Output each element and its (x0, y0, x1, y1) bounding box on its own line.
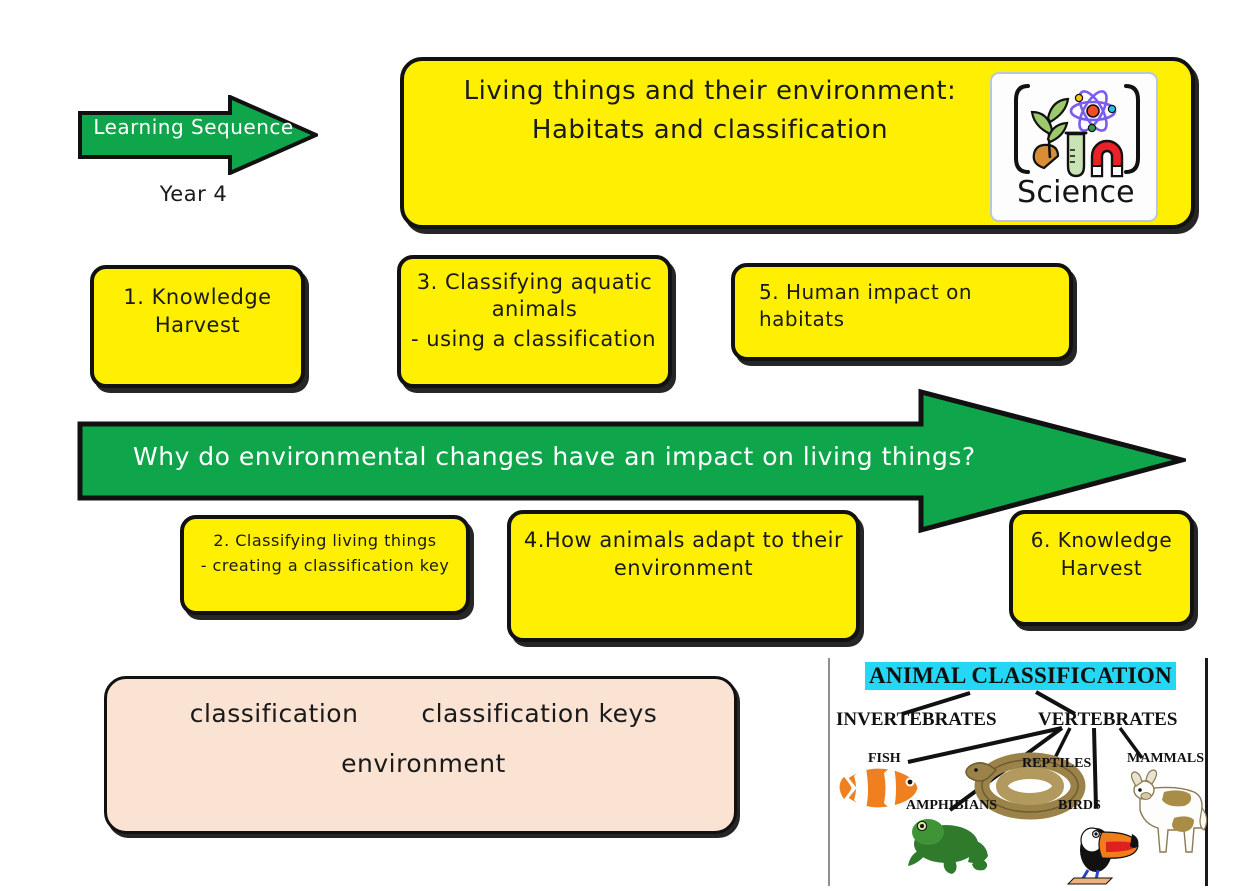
vocabulary-word-2: classification keys (421, 699, 657, 728)
label-vertebrates: VERTEBRATES (1038, 709, 1177, 731)
classification-diagram-lines (830, 658, 1210, 886)
lesson-3-line2: animals (411, 296, 658, 323)
lesson-2-line2: - creating a classification key (194, 554, 456, 579)
animal-classification-title: ANIMAL CLASSIFICATION (865, 662, 1176, 690)
lesson-6-text: 6. Knowledge Harvest (1023, 526, 1180, 582)
lesson-box-4[interactable]: 4.How animals adapt to their environment (507, 510, 860, 642)
lesson-4-line2: environment (521, 554, 846, 582)
lesson-4-text: 4.How animals adapt to their environment (521, 526, 846, 583)
lesson-6-line1: 6. Knowledge (1023, 526, 1180, 554)
label-mammals: MAMMALS (1127, 751, 1204, 767)
label-reptiles: REPTILES (1022, 756, 1091, 772)
lesson-2-line1: 2. Classifying living things (194, 529, 456, 554)
vocabulary-box: classification classification keys envir… (104, 676, 737, 834)
learning-sequence-poster: Learning Sequence Year 4 Living things a… (0, 0, 1260, 891)
learning-sequence-arrow (78, 95, 318, 175)
magnet-icon (1092, 141, 1122, 176)
vocabulary-line-2: environment (107, 747, 740, 781)
test-tube-icon (1066, 133, 1086, 176)
cow-icon (1131, 770, 1206, 852)
lesson-6-line2: Harvest (1023, 554, 1180, 582)
science-icons-graphic (992, 76, 1158, 182)
year-label: Year 4 (86, 180, 301, 208)
label-birds: BIRDS (1058, 798, 1101, 814)
toucan-icon (1068, 828, 1138, 884)
animal-classification-image: ANIMAL CLASSIFICATION INVERTEBRATES VERT… (828, 658, 1208, 886)
lesson-5-text: 5. Human impact on habitats (745, 279, 1059, 333)
lesson-box-2[interactable]: 2. Classifying living things - creating … (180, 515, 470, 615)
lesson-box-6[interactable]: 6. Knowledge Harvest (1009, 510, 1194, 626)
label-fish: FISH (868, 751, 901, 767)
lesson-5-line1: 5. Human impact on habitats (759, 279, 1059, 333)
lesson-2-text: 2. Classifying living things - creating … (194, 529, 456, 579)
lesson-1-text: 1. Knowledge Harvest (104, 283, 291, 340)
label-amphibians: AMPHIBIANS (906, 798, 997, 814)
lesson-box-5[interactable]: 5. Human impact on habitats (731, 263, 1073, 361)
lesson-3-line3: - using a classification (411, 326, 658, 353)
frog-icon (908, 819, 988, 874)
vocabulary-line-1: classification classification keys (107, 697, 740, 731)
vocabulary-word-1: classification (190, 699, 359, 728)
lesson-1-line1: 1. Knowledge (104, 283, 291, 311)
lesson-1-line2: Harvest (104, 311, 291, 339)
lesson-3-line1: 3. Classifying aquatic (411, 269, 658, 296)
label-invertebrates: INVERTEBRATES (836, 709, 997, 731)
lesson-3-text: 3. Classifying aquatic animals - using a… (411, 269, 658, 353)
atom-icon (1071, 87, 1116, 134)
plant-sprout-icon (1032, 99, 1068, 168)
lesson-4-line1: 4.How animals adapt to their (521, 526, 846, 554)
lesson-box-1[interactable]: 1. Knowledge Harvest (90, 265, 305, 388)
lesson-box-3[interactable]: 3. Classifying aquatic animals - using a… (397, 255, 672, 388)
vocabulary-word-3: environment (341, 749, 506, 778)
page-title: Living things and their environment: Hab… (430, 72, 990, 150)
science-logo-label: Science (992, 175, 1158, 210)
science-subject-logo: Science (990, 72, 1158, 222)
